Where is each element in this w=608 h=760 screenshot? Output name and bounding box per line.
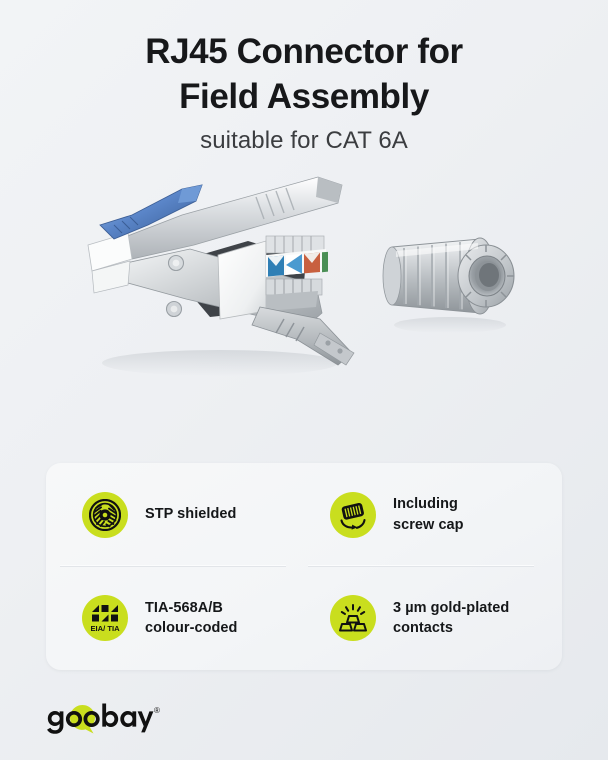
page-title-line2: Field Assembly (179, 77, 429, 116)
feature-tia-568-colour-coded: EIA/ TIA TIA-568A/B colour-coded (46, 567, 304, 671)
feature-label-line2: colour-coded (145, 618, 237, 639)
feature-label: STP shielded (145, 504, 236, 525)
feature-gold-plated-contacts: 3 µm gold-plated contacts (304, 567, 562, 671)
eia-tia-colour-grid-icon: EIA/ TIA (82, 595, 128, 641)
feature-label-line1: STP shielded (145, 504, 236, 525)
page-title: RJ45 Connector for Field Assembly (0, 30, 608, 120)
feature-label-line1: 3 µm gold-plated (393, 598, 509, 619)
feature-label: Including screw cap (393, 494, 464, 535)
hero-product-image (0, 161, 608, 419)
feature-label-line1: TIA-568A/B (145, 598, 237, 619)
feature-including-screw-cap: Including screw cap (304, 463, 562, 567)
eia-tia-icon-text: EIA/ TIA (90, 624, 120, 633)
logo-trademark: ® (154, 706, 160, 715)
feature-stp-shielded: STP shielded (46, 463, 304, 567)
screw-cap-rotation-icon (330, 492, 376, 538)
page-subtitle: suitable for CAT 6A (0, 127, 608, 155)
feature-label: TIA-568A/B colour-coded (145, 598, 237, 639)
gold-bars-icon (330, 595, 376, 641)
logo-blob (70, 705, 95, 734)
feature-label: 3 µm gold-plated contacts (393, 598, 509, 639)
logo-wordmark (47, 704, 153, 734)
screw-cap-illustration (378, 225, 528, 335)
page-title-line1: RJ45 Connector for (145, 32, 463, 71)
goobay-logo: ® (46, 700, 162, 736)
feature-label-line1: Including (393, 494, 464, 515)
feature-card: STP shielded (46, 463, 562, 670)
rj45-connector-illustration (70, 167, 360, 387)
page-header: RJ45 Connector for Field Assembly suitab… (0, 0, 608, 155)
feature-label-line2: contacts (393, 618, 509, 639)
stp-shield-braid-icon (82, 492, 128, 538)
feature-label-line2: screw cap (393, 515, 464, 536)
